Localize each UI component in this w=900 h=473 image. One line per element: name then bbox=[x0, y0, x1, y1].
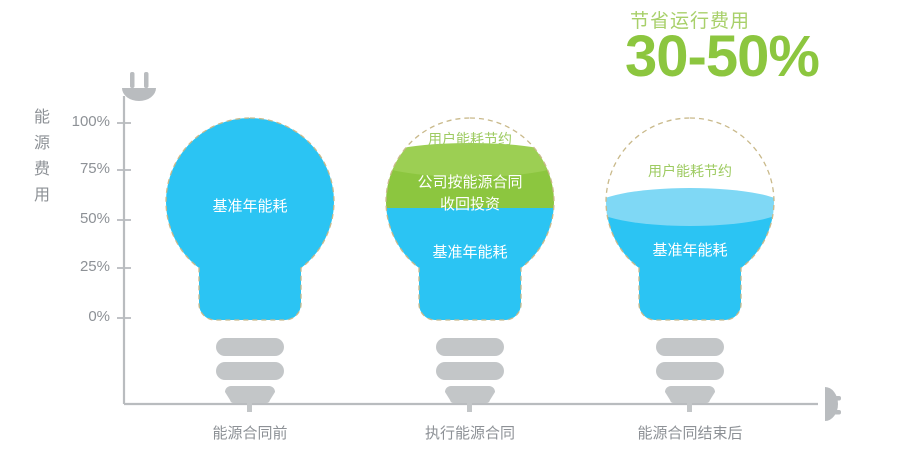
y-tick-label-100: 100% bbox=[52, 113, 110, 130]
bulb1-baseline-label: 基准年能耗 bbox=[160, 196, 340, 218]
y-axis-title: 能 源 费 用 bbox=[30, 105, 54, 209]
y-axis-title-char: 源 bbox=[30, 131, 54, 157]
bulb2-savings-label: 用户能耗节约 bbox=[380, 128, 560, 150]
y-tick-label-25: 25% bbox=[52, 258, 110, 275]
y-tick-label-0: 0% bbox=[52, 308, 110, 325]
x-tick-label-before: 能源合同前 bbox=[155, 422, 345, 443]
infographic-canvas: 节省运行费用 30-50% bbox=[0, 0, 900, 473]
y-tick-label-50: 50% bbox=[52, 210, 110, 227]
bulb3-savings-label: 用户能耗节约 bbox=[600, 160, 780, 182]
y-tick-label-75: 75% bbox=[52, 160, 110, 177]
bulb-base bbox=[656, 338, 724, 412]
power-plug-icon-right bbox=[825, 387, 841, 421]
x-tick-label-during: 执行能源合同 bbox=[375, 422, 565, 443]
bulb-base bbox=[436, 338, 504, 412]
bulb2-investment-label-line1: 公司按能源合同 bbox=[380, 172, 560, 194]
bulb2-investment-label-line2: 收回投资 bbox=[380, 194, 560, 216]
bulb-before-contract bbox=[160, 110, 340, 412]
bulb3-baseline-label: 基准年能耗 bbox=[600, 240, 780, 262]
x-tick-label-after: 能源合同结束后 bbox=[595, 422, 785, 443]
bulb2-baseline-label: 基准年能耗 bbox=[380, 242, 560, 264]
y-axis-title-char: 费 bbox=[30, 157, 54, 183]
bulb-base bbox=[216, 338, 284, 412]
power-plug-icon-top bbox=[122, 72, 156, 101]
bulb-during-contract bbox=[374, 118, 566, 412]
y-axis-title-char: 能 bbox=[30, 105, 54, 131]
chart-artwork bbox=[0, 0, 900, 473]
y-axis-title-char: 用 bbox=[30, 183, 54, 209]
